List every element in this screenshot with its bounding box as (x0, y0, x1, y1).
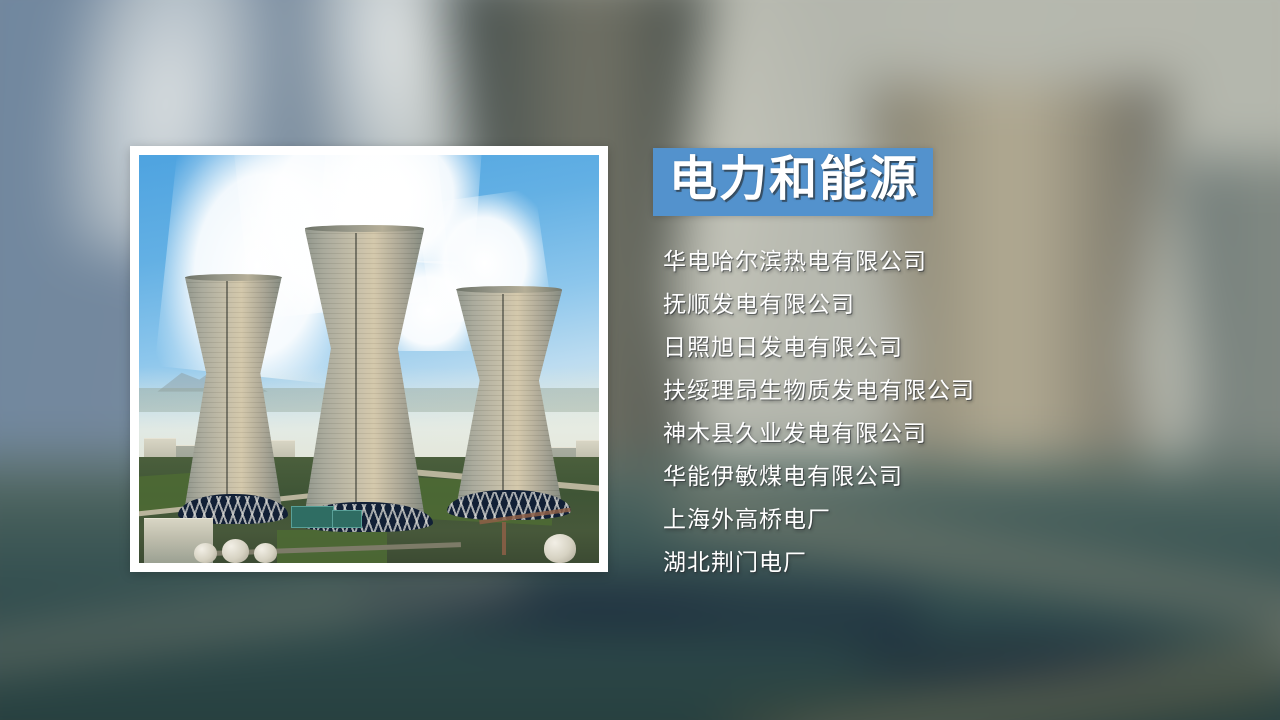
list-item: 华电哈尔滨热电有限公司 (663, 240, 1223, 283)
list-item: 湖北荆门电厂 (663, 541, 1223, 584)
photo-tower-seam (502, 294, 504, 502)
photo-plant-building (291, 506, 334, 528)
photo-pipeline (502, 522, 506, 555)
list-item: 扶绥理昂生物质发电有限公司 (663, 369, 1223, 412)
slide-title-banner: 电力和能源 (653, 148, 933, 216)
list-item: 抚顺发电有限公司 (663, 283, 1223, 326)
slide-canvas: 电力和能源 华电哈尔滨热电有限公司 抚顺发电有限公司 日照旭日发电有限公司 扶绥… (0, 0, 1280, 720)
photo-storage-tank (222, 539, 250, 563)
photo-frame (130, 146, 608, 572)
photo-plant-building (332, 510, 362, 528)
list-item: 神木县久业发电有限公司 (663, 412, 1223, 455)
page-title: 电力和能源 (669, 152, 919, 208)
company-list: 华电哈尔滨热电有限公司 抚顺发电有限公司 日照旭日发电有限公司 扶绥理昂生物质发… (663, 240, 1223, 584)
photo-tower-seam (355, 233, 357, 510)
power-plant-photo (139, 155, 599, 563)
list-item: 日照旭日发电有限公司 (663, 326, 1223, 369)
list-item: 华能伊敏煤电有限公司 (663, 455, 1223, 498)
photo-storage-tank (254, 543, 277, 563)
photo-storage-tank (544, 534, 576, 563)
photo-tower-support-lattice (447, 490, 571, 520)
photo-storage-tank (194, 543, 217, 563)
photo-tower-seam (226, 281, 228, 501)
list-item: 上海外高桥电厂 (663, 498, 1223, 541)
